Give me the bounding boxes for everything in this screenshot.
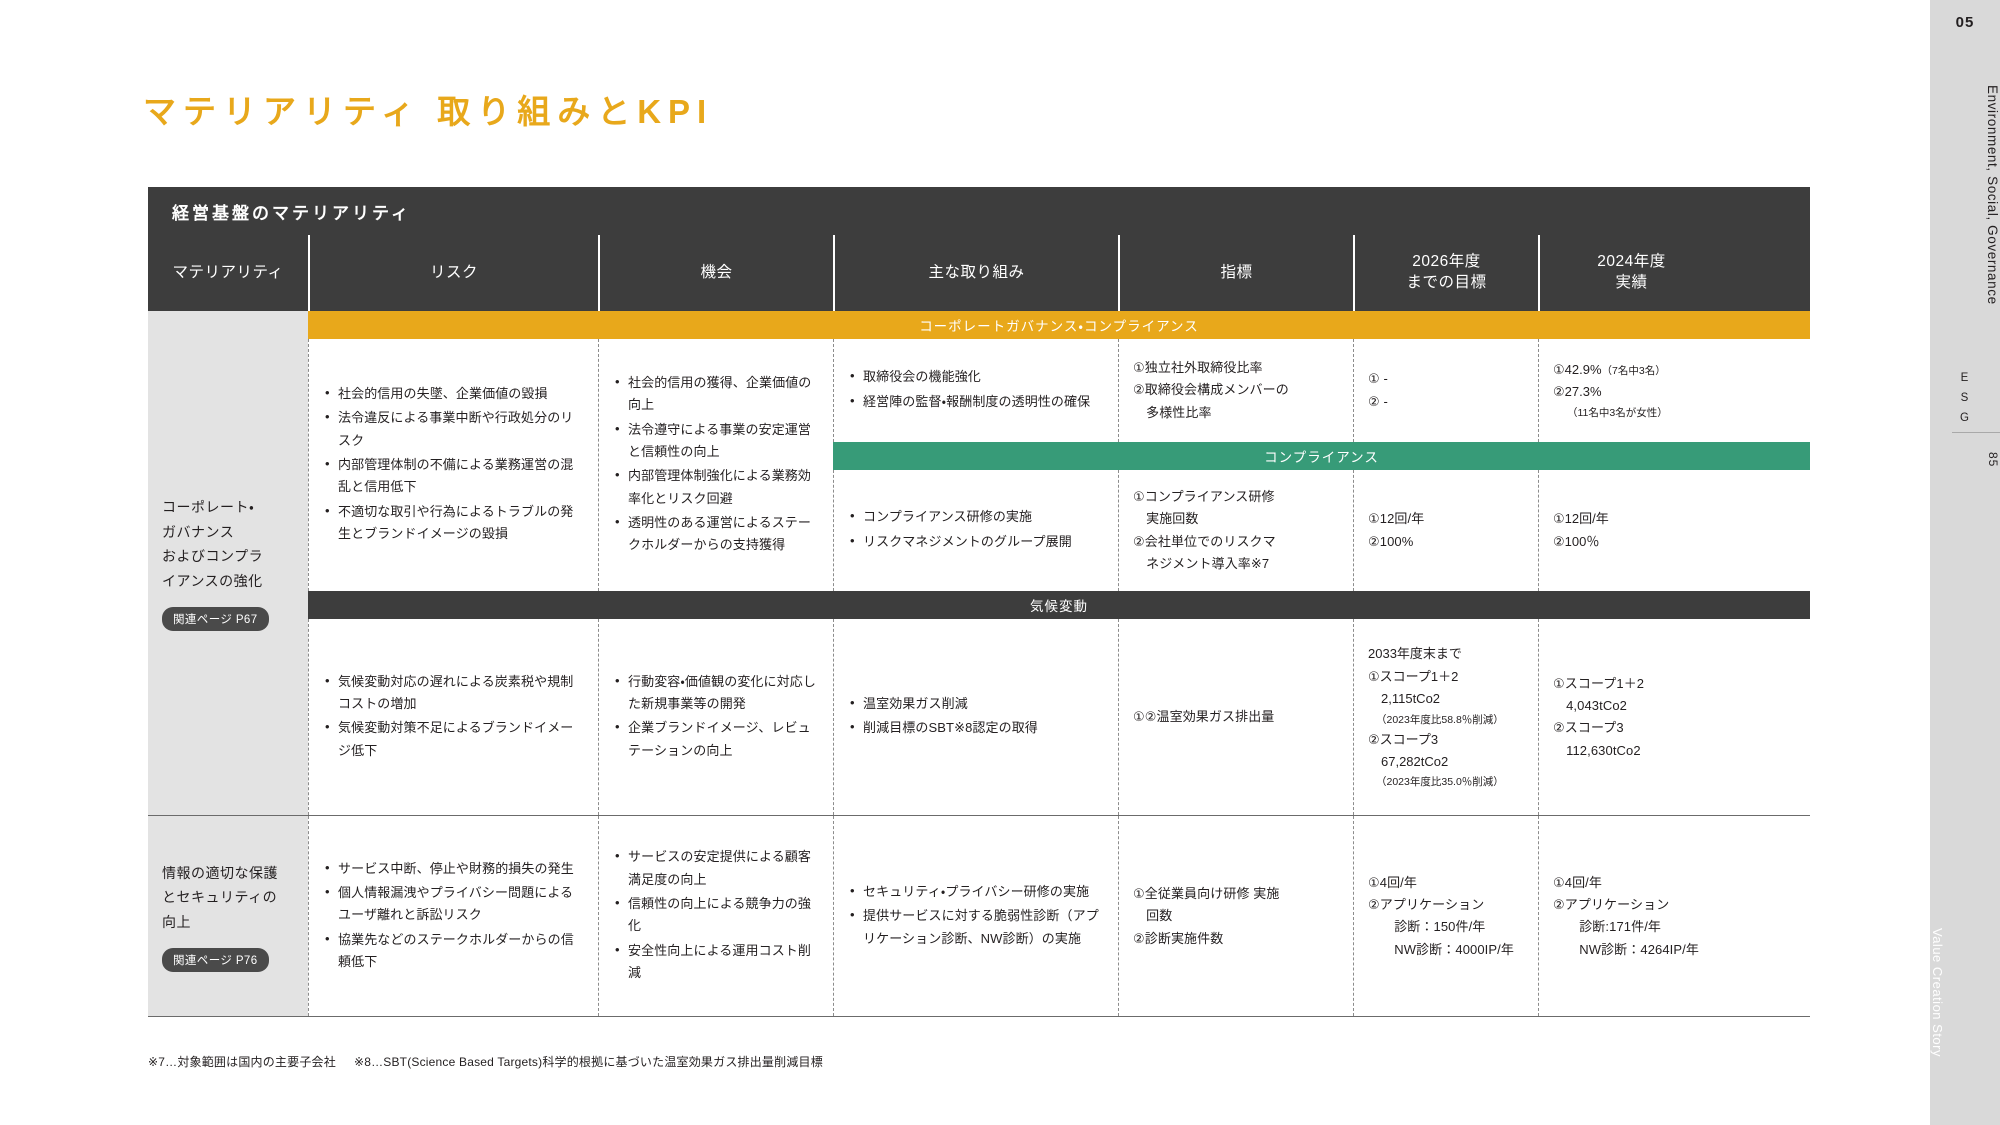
risk-cell: 気候変動対応の遅れによる炭素税や規制コストの増加 気候変動対策不足によるブランド… bbox=[308, 619, 598, 815]
page-number: 85 bbox=[1930, 452, 2000, 467]
sidebar-footer-label: Value Creation Story bbox=[1930, 887, 2000, 1097]
initiatives-list: 取締役会の機能強化 経営陣の監督・報酬制度の透明性の確保 bbox=[848, 366, 1104, 415]
result-cell: ①スコープ1＋2 4,043tCo2 ②スコープ3 112,630tCo2 bbox=[1538, 619, 1723, 815]
materiality-group-governance: コーポレート・ ガバナンス およびコンプラ イアンスの強化 関連ページ P67 … bbox=[148, 311, 1810, 815]
indicator-cell: ①独立社外取締役比率 ②取締役会構成メンバーの 多様性比率 bbox=[1118, 339, 1353, 442]
risk-cell: 社会的信用の失墜、企業価値の毀損 法令違反による事業中断や行政処分のリスク 内部… bbox=[308, 339, 598, 591]
col-header-indicator: 指標 bbox=[1118, 235, 1353, 311]
esg-letters: ESG bbox=[1930, 368, 2000, 428]
materiality-name: 情報の適切な保護 とセキュリティの 向上 bbox=[162, 861, 294, 935]
target-cell: ①4回/年 ②アプリケーション 診断：150件/年 NW診断：4000IP/年 bbox=[1353, 816, 1538, 1016]
opportunity-list: 社会的信用の獲得、企業価値の向上 法令遵守による事業の安定運営と信頼性の向上 内… bbox=[613, 372, 819, 559]
list-item: 信頼性の向上による競争力の強化 bbox=[613, 893, 819, 938]
result-line: ①42.9%（7名中3名） bbox=[1553, 359, 1709, 381]
list-item: 企業ブランドイメージ、レビュテーションの向上 bbox=[613, 717, 819, 762]
section-banner-corporate-governance: コーポレートガバナンス・コンプライアンス bbox=[308, 311, 1810, 339]
list-item: セキュリティ・プライバシー研修の実施 bbox=[848, 881, 1104, 903]
list-item: 行動変容・価値観の変化に対応した新規事業等の開発 bbox=[613, 671, 819, 716]
risk-list: サービス中断、停止や財務的損失の発生 個人情報漏洩やプライバシー問題によるユーザ… bbox=[323, 858, 584, 976]
list-item: 取締役会の機能強化 bbox=[848, 366, 1104, 388]
chapter-sidebar: 05 Environment, Social, Governance ESG 8… bbox=[1930, 0, 2000, 1125]
footnote-8: ※8…SBT(Science Based Targets)科学的根拠に基づいた温… bbox=[354, 1055, 823, 1069]
related-page-badge[interactable]: 関連ページ P76 bbox=[162, 948, 269, 972]
section-banner-compliance: コンプライアンス bbox=[833, 442, 1810, 470]
opportunity-list: サービスの安定提供による顧客満足度の向上 信頼性の向上による競争力の強化 安全性… bbox=[613, 846, 819, 986]
initiatives-list: コンプライアンス研修の実施 リスクマネジメントのグループ展開 bbox=[848, 506, 1104, 555]
subsection-climate-change: 気候変動対応の遅れによる炭素税や規制コストの増加 気候変動対策不足によるブランド… bbox=[308, 619, 1810, 815]
initiatives-cell: コンプライアンス研修の実施 リスクマネジメントのグループ展開 bbox=[833, 470, 1118, 591]
list-item: コンプライアンス研修の実施 bbox=[848, 506, 1104, 528]
target-note: （2023年度比35.0％削減） bbox=[1368, 773, 1524, 791]
result-note: （11名中3名が女性） bbox=[1553, 404, 1709, 422]
list-item: 温室効果ガス削減 bbox=[848, 693, 1104, 715]
initiatives-list: 温室効果ガス削減 削減目標のSBT※8認定の取得 bbox=[848, 693, 1104, 742]
list-item: 社会的信用の失墜、企業価値の毀損 bbox=[323, 383, 584, 405]
col-header-initiatives: 主な取り組み bbox=[833, 235, 1118, 311]
group-content: サービス中断、停止や財務的損失の発生 個人情報漏洩やプライバシー問題によるユーザ… bbox=[308, 816, 1810, 1016]
list-item: 気候変動対策不足によるブランドイメージ低下 bbox=[323, 717, 584, 762]
list-item: 個人情報漏洩やプライバシー問題によるユーザ離れと訴訟リスク bbox=[323, 882, 584, 927]
subsections-wrap: 取締役会の機能強化 経営陣の監督・報酬制度の透明性の確保 ①独立社外取締役比率 … bbox=[833, 339, 1810, 591]
materiality-group-information-security: 情報の適切な保護 とセキュリティの 向上 関連ページ P76 サービス中断、停止… bbox=[148, 816, 1810, 1016]
target-line: 2,115tCo2 bbox=[1368, 688, 1524, 710]
col-header-target: 2026年度 までの目標 bbox=[1353, 235, 1538, 311]
table-column-headers: マテリアリティ リスク 機会 主な取り組み 指標 2026年度 までの目標 20… bbox=[148, 235, 1810, 311]
report-page: 05 Environment, Social, Governance ESG 8… bbox=[0, 0, 2000, 1125]
related-page-badge[interactable]: 関連ページ P67 bbox=[162, 607, 269, 631]
group-content: コーポレートガバナンス・コンプライアンス 社会的信用の失墜、企業価値の毀損 法令… bbox=[308, 311, 1810, 815]
target-cell: ① - ② - bbox=[1353, 339, 1538, 442]
opportunity-cell: 社会的信用の獲得、企業価値の向上 法令遵守による事業の安定運営と信頼性の向上 内… bbox=[598, 339, 833, 591]
chapter-title-vertical: Environment, Social, Governance bbox=[1930, 40, 2000, 350]
materiality-label-cell: 情報の適切な保護 とセキュリティの 向上 関連ページ P76 bbox=[148, 816, 308, 1016]
result-cell: ①4回/年 ②アプリケーション 診断:171件/年 NW診断：4264IP/年 bbox=[1538, 816, 1723, 1016]
result-cell: ①12回/年 ②100％ bbox=[1538, 470, 1723, 591]
list-item: 内部管理体制強化による業務効率化とリスク回避 bbox=[613, 465, 819, 510]
target-line: 2033年度末まで bbox=[1368, 643, 1524, 665]
target-cell: 2033年度末まで ①スコープ1＋2 2,115tCo2 （2023年度比58.… bbox=[1353, 619, 1538, 815]
materiality-label-cell: コーポレート・ ガバナンス およびコンプラ イアンスの強化 関連ページ P67 bbox=[148, 311, 308, 815]
result-value: ②27.3% bbox=[1553, 384, 1602, 399]
col-header-result: 2024年度 実績 bbox=[1538, 235, 1723, 311]
list-item: リスクマネジメントのグループ展開 bbox=[848, 531, 1104, 553]
list-item: サービスの安定提供による顧客満足度の向上 bbox=[613, 846, 819, 891]
indicator-cell: ①②温室効果ガス排出量 bbox=[1118, 619, 1353, 815]
list-item: 不適切な取引や行為によるトラブルの発生とブランドイメージの毀損 bbox=[323, 501, 584, 546]
subsection-compliance: コンプライアンス研修の実施 リスクマネジメントのグループ展開 ①コンプライアンス… bbox=[833, 470, 1810, 591]
result-line: ②27.3% bbox=[1553, 381, 1709, 403]
result-cell: ①42.9%（7名中3名） ②27.3% （11名中3名が女性） bbox=[1538, 339, 1723, 442]
target-cell: ①12回/年 ②100% bbox=[1353, 470, 1538, 591]
page-title: マテリアリティ 取り組みとKPI bbox=[143, 85, 713, 133]
initiatives-list: セキュリティ・プライバシー研修の実施 提供サービスに対する脆弱性診断（アプリケー… bbox=[848, 881, 1104, 952]
opportunity-cell: サービスの安定提供による顧客満足度の向上 信頼性の向上による競争力の強化 安全性… bbox=[598, 816, 833, 1016]
indicator-cell: ①コンプライアンス研修 実施回数 ②会社単位でのリスクマ ネジメント導入率※7 bbox=[1118, 470, 1353, 591]
list-item: 経営陣の監督・報酬制度の透明性の確保 bbox=[848, 391, 1104, 413]
list-item: 協業先などのステークホルダーからの信頼低下 bbox=[323, 929, 584, 974]
target-line: 67,282tCo2 bbox=[1368, 751, 1524, 773]
chapter-number: 05 bbox=[1930, 14, 2000, 31]
footnote-7: ※7…対象範囲は国内の主要子会社 bbox=[148, 1055, 336, 1069]
risk-list: 社会的信用の失墜、企業価値の毀損 法令違反による事業中断や行政処分のリスク 内部… bbox=[323, 383, 584, 548]
list-item: 気候変動対応の遅れによる炭素税や規制コストの増加 bbox=[323, 671, 584, 716]
col-header-materiality: マテリアリティ bbox=[148, 235, 308, 311]
risk-cell: サービス中断、停止や財務的損失の発生 個人情報漏洩やプライバシー問題によるユーザ… bbox=[308, 816, 598, 1016]
list-item: 法令遵守による事業の安定運営と信頼性の向上 bbox=[613, 419, 819, 464]
indicator-cell: ①全従業員向け研修 実施 回数 ②診断実施件数 bbox=[1118, 816, 1353, 1016]
result-line: ②100％ bbox=[1553, 531, 1709, 553]
col-header-risk: リスク bbox=[308, 235, 598, 311]
list-item: 提供サービスに対する脆弱性診断（アプリケーション診断、NW診断）の実施 bbox=[848, 905, 1104, 950]
list-item: 安全性向上による運用コスト削減 bbox=[613, 940, 819, 985]
initiatives-cell: 取締役会の機能強化 経営陣の監督・報酬制度の透明性の確保 bbox=[833, 339, 1118, 442]
result-note: （7名中3名） bbox=[1602, 365, 1666, 377]
target-line: ②スコープ3 bbox=[1368, 729, 1524, 751]
result-line: ①12回/年 bbox=[1553, 508, 1709, 530]
list-item: 社会的信用の獲得、企業価値の向上 bbox=[613, 372, 819, 417]
col-header-opportunity: 機会 bbox=[598, 235, 833, 311]
risk-list: 気候変動対応の遅れによる炭素税や規制コストの増加 気候変動対策不足によるブランド… bbox=[323, 671, 584, 764]
list-item: 法令違反による事業中断や行政処分のリスク bbox=[323, 407, 584, 452]
materiality-name: コーポレート・ ガバナンス およびコンプラ イアンスの強化 bbox=[162, 495, 294, 593]
section-row-governance: 社会的信用の失墜、企業価値の毀損 法令違反による事業中断や行政処分のリスク 内部… bbox=[308, 339, 1810, 591]
sidebar-divider bbox=[1952, 432, 2000, 433]
list-item: 透明性のある運営によるステークホルダーからの支持獲得 bbox=[613, 512, 819, 557]
list-item: 削減目標のSBT※8認定の取得 bbox=[848, 717, 1104, 739]
table-band-title: 経営基盤のマテリアリティ bbox=[148, 187, 1810, 235]
subsection-corporate-governance: 取締役会の機能強化 経営陣の監督・報酬制度の透明性の確保 ①独立社外取締役比率 … bbox=[833, 339, 1810, 442]
initiatives-cell: セキュリティ・プライバシー研修の実施 提供サービスに対する脆弱性診断（アプリケー… bbox=[833, 816, 1118, 1016]
section-banner-climate-change: 気候変動 bbox=[308, 591, 1810, 619]
result-value: ①42.9% bbox=[1553, 362, 1602, 377]
list-item: サービス中断、停止や財務的損失の発生 bbox=[323, 858, 584, 880]
target-note: （2023年度比58.8％削減） bbox=[1368, 711, 1524, 729]
opportunity-list: 行動変容・価値観の変化に対応した新規事業等の開発 企業ブランドイメージ、レビュテ… bbox=[613, 671, 819, 764]
list-item: 内部管理体制の不備による業務運営の混乱と信用低下 bbox=[323, 454, 584, 499]
footnotes: ※7…対象範囲は国内の主要子会社※8…SBT(Science Based Tar… bbox=[148, 1053, 823, 1070]
materiality-table: 経営基盤のマテリアリティ マテリアリティ リスク 機会 主な取り組み 指標 20… bbox=[148, 187, 1810, 1017]
opportunity-cell: 行動変容・価値観の変化に対応した新規事業等の開発 企業ブランドイメージ、レビュテ… bbox=[598, 619, 833, 815]
initiatives-cell: 温室効果ガス削減 削減目標のSBT※8認定の取得 bbox=[833, 619, 1118, 815]
target-line: ①スコープ1＋2 bbox=[1368, 666, 1524, 688]
table-bottom-border bbox=[148, 1016, 1810, 1017]
